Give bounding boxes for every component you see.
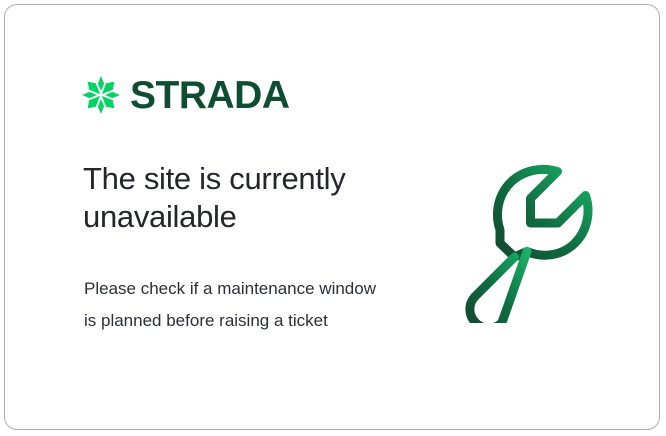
strada-asterisk-icon (81, 75, 121, 115)
brand-lockup: STRADA (81, 75, 290, 115)
wrench-icon (457, 153, 623, 323)
page-title: The site is currently unavailable (83, 160, 443, 236)
page-description: Please check if a maintenance window is … (84, 273, 389, 337)
brand-wordmark: STRADA (130, 76, 290, 115)
status-card: STRADA The site is currently unavailable… (4, 4, 660, 430)
